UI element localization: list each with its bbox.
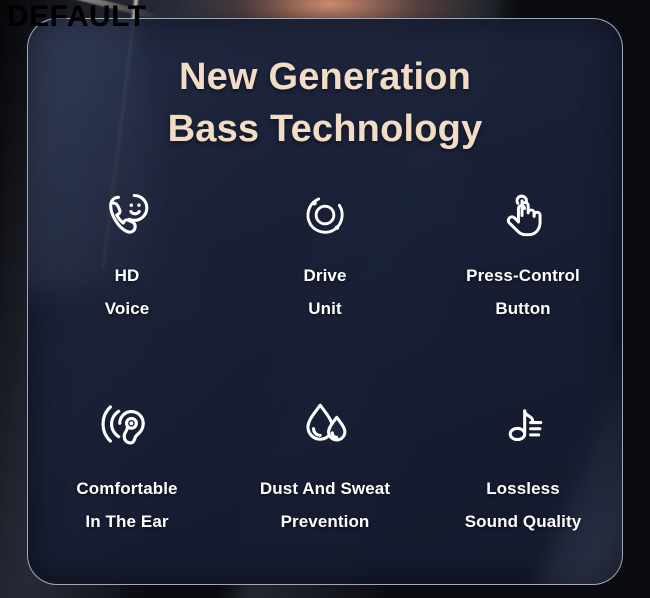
feature-label-line-2: Unit <box>303 292 346 325</box>
feature-label-comfortable-ear: Comfortable In The Ear <box>76 472 177 538</box>
feature-label-dust-sweat: Dust And Sweat Prevention <box>260 472 390 538</box>
feature-grid-row-1: HD Voice <box>28 173 622 325</box>
feature-item-dust-sweat: Dust And Sweat Prevention <box>226 344 424 538</box>
feature-label-line-2: In The Ear <box>76 505 177 538</box>
driver-unit-icon <box>293 183 357 247</box>
feature-panel: New Generation Bass Technology <box>27 18 623 585</box>
headline: New Generation Bass Technology <box>28 19 622 155</box>
feature-label-line-2: Button <box>466 292 580 325</box>
feature-label-line-2: Voice <box>105 292 150 325</box>
feature-label-line-2: Sound Quality <box>465 505 582 538</box>
feature-label-lossless-sound: Lossless Sound Quality <box>465 472 582 538</box>
feature-item-hd-voice: HD Voice <box>28 173 226 325</box>
feature-item-comfortable-ear: Comfortable In The Ear <box>28 344 226 538</box>
feature-label-line-1: HD <box>105 259 150 292</box>
feature-grid-row-2: Comfortable In The Ear <box>28 344 622 538</box>
product-feature-banner: DEFAULT New Generation Bass Technology <box>0 0 650 598</box>
headline-line-1: New Generation <box>28 52 622 104</box>
feature-label-line-1: Drive <box>303 259 346 292</box>
tap-hand-icon <box>491 183 555 247</box>
music-note-icon <box>491 392 555 456</box>
feature-label-line-2: Prevention <box>260 505 390 538</box>
water-drops-icon <box>293 392 357 456</box>
feature-label-line-1: Lossless <box>465 472 582 505</box>
ear-waves-icon <box>95 392 159 456</box>
feature-label-drive-unit: Drive Unit <box>303 259 346 325</box>
feature-item-lossless-sound: Lossless Sound Quality <box>424 344 622 538</box>
headline-line-2: Bass Technology <box>28 104 622 156</box>
feature-label-line-1: Press-Control <box>466 259 580 292</box>
default-watermark: DEFAULT <box>7 2 147 32</box>
feature-label-press-control: Press-Control Button <box>466 259 580 325</box>
feature-item-drive-unit: Drive Unit <box>226 173 424 325</box>
phone-smiley-icon <box>95 183 159 247</box>
feature-label-line-1: Comfortable <box>76 472 177 505</box>
feature-item-press-control: Press-Control Button <box>424 173 622 325</box>
feature-label-hd-voice: HD Voice <box>105 259 150 325</box>
feature-label-line-1: Dust And Sweat <box>260 472 390 505</box>
